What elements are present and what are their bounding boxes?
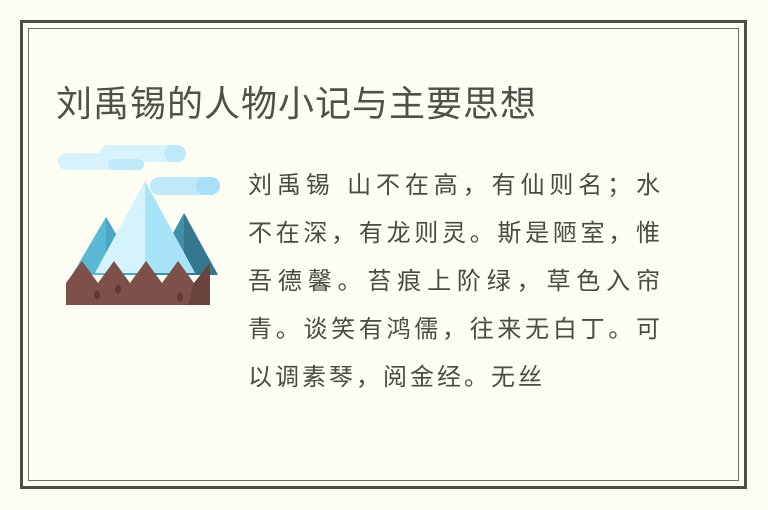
base-dot (115, 285, 121, 294)
slide-canvas: 刘禹锡的人物小记与主要思想 (0, 0, 768, 510)
content-area: 刘禹锡 山不在高，有仙则名；水不在深，有龙则灵。斯是陋室，惟吾德馨。苔痕上阶绿，… (56, 145, 728, 470)
cloud-group (58, 145, 220, 195)
page-title: 刘禹锡的人物小记与主要思想 (56, 82, 537, 126)
article-body: 刘禹锡 山不在高，有仙则名；水不在深，有龙则灵。斯是陋室，惟吾德馨。苔痕上阶绿，… (248, 145, 728, 470)
base-dot (177, 293, 183, 302)
base-dot (94, 291, 100, 300)
mountain-illustration (56, 145, 224, 310)
article-paragraph: 刘禹锡 山不在高，有仙则名；水不在深，有龙则灵。斯是陋室，惟吾德馨。苔痕上阶绿，… (248, 161, 663, 401)
mountain-icon (56, 145, 224, 310)
